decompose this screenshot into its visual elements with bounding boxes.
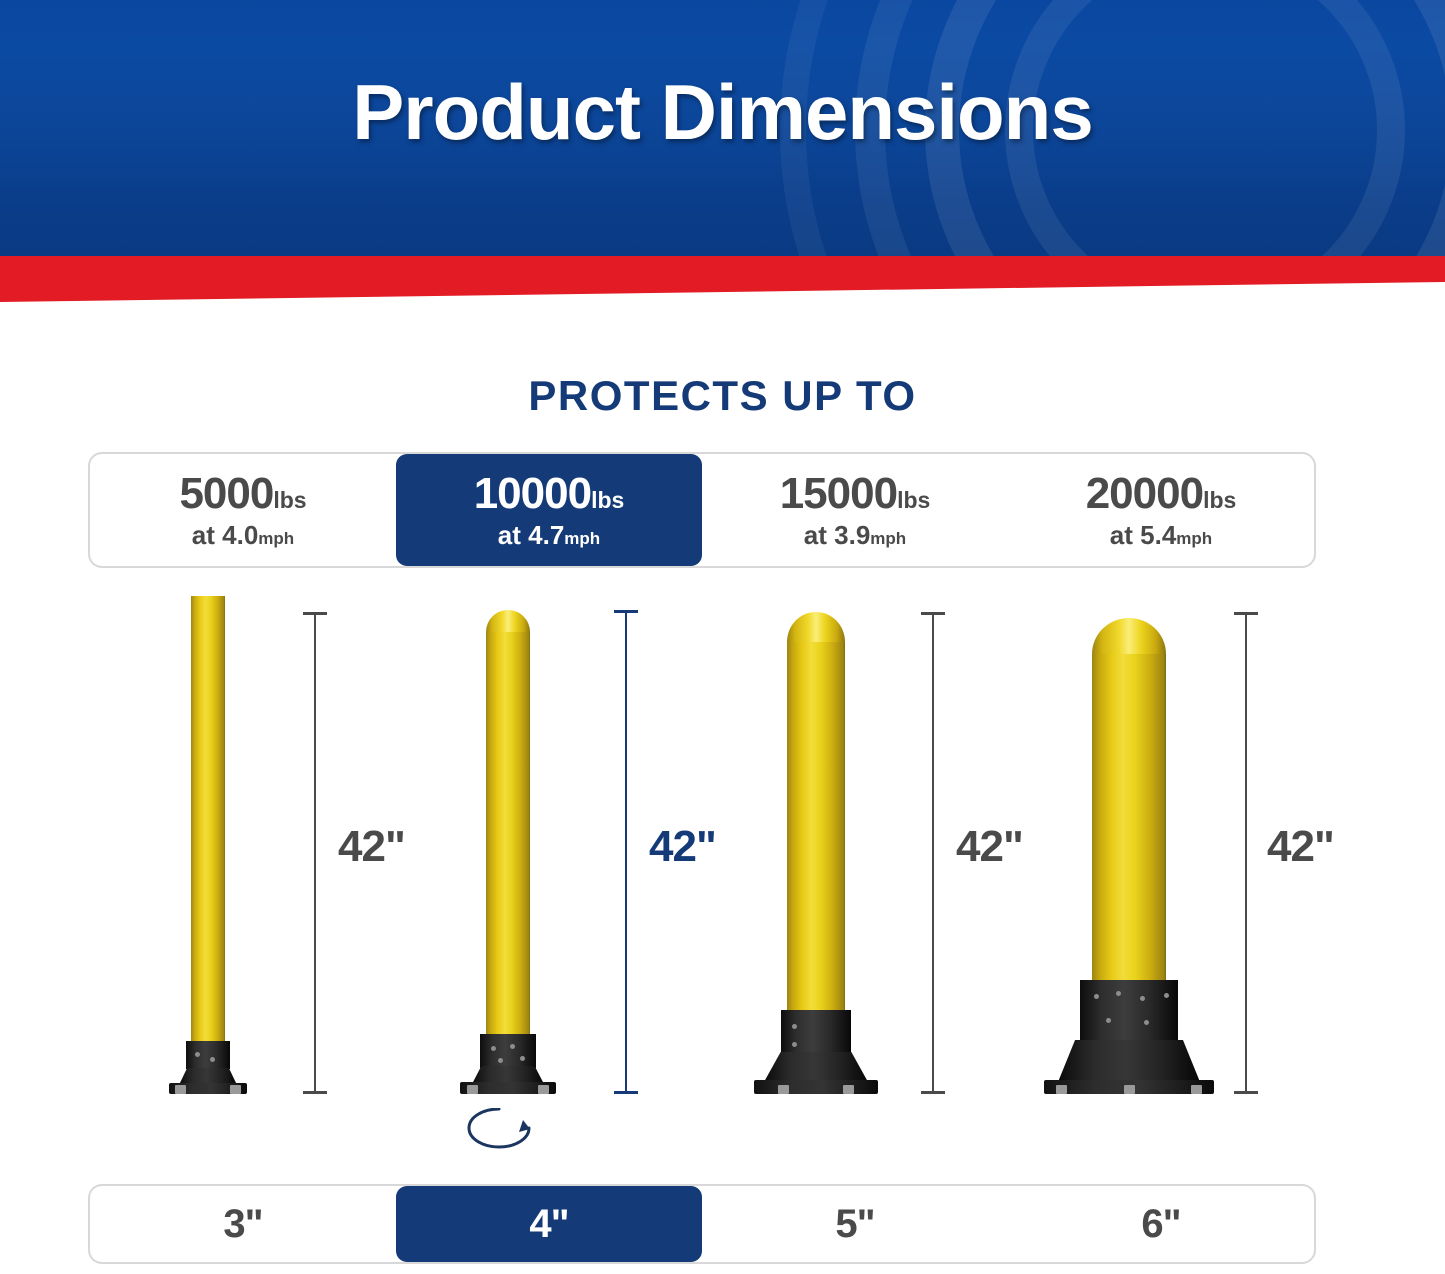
diameter-option-4in[interactable]: 4" (396, 1186, 702, 1262)
weight-value: 10000lbs (474, 472, 625, 516)
page-header: Product Dimensions (0, 0, 1445, 258)
dimension-line-4in (611, 610, 641, 1094)
post-cap-dome-icon (1092, 618, 1166, 654)
speed-unit: mph (258, 529, 294, 548)
product-column-5in: 42" (702, 596, 1009, 1166)
speed-unit: mph (870, 529, 906, 548)
bollard-base-plate (1044, 1080, 1214, 1094)
post-cap-dome-icon (486, 610, 530, 632)
diameter-label: 3" (223, 1204, 262, 1244)
bollard-post (1092, 654, 1166, 1016)
weight-speed: at 5.4mph (1110, 522, 1212, 548)
bollard-graphic-6in (1029, 596, 1229, 1094)
bollard-collar (480, 1034, 536, 1068)
dimension-line-5in (918, 612, 948, 1094)
weight-value: 20000lbs (1086, 472, 1237, 516)
post-cap-dome-icon (787, 612, 845, 642)
bollard-base-plate (460, 1082, 556, 1094)
diameter-option-3in[interactable]: 3" (90, 1186, 396, 1262)
bollard-base-body (1058, 1040, 1200, 1082)
weight-unit: lbs (897, 487, 930, 513)
product-column-4in: 42" (395, 596, 702, 1166)
diameter-label: 5" (835, 1204, 874, 1244)
weight-option-20000[interactable]: 20000lbs at 5.4mph (1008, 454, 1314, 566)
weight-speed: at 4.7mph (498, 522, 600, 548)
bollard-graphic-5in (736, 596, 896, 1094)
product-illustration-row: 42" (88, 596, 1316, 1166)
weight-unit: lbs (591, 487, 624, 513)
rotation-arrow-icon (457, 1108, 543, 1159)
diameter-label: 4" (529, 1204, 568, 1244)
bollard-base-plate (169, 1083, 247, 1094)
bollard-post (787, 642, 845, 1042)
bollard-post (486, 632, 530, 1064)
weight-value: 15000lbs (780, 472, 931, 516)
height-label-6in: 42" (1267, 822, 1334, 872)
bollard-base-body (764, 1052, 868, 1082)
speed-unit: mph (1176, 529, 1212, 548)
bollard-collar (186, 1041, 230, 1069)
weight-unit: lbs (1203, 487, 1236, 513)
weight-selector-bar: 5000lbs at 4.0mph 10000lbs at 4.7mph 150… (88, 452, 1316, 568)
diameter-option-5in[interactable]: 5" (702, 1186, 1008, 1262)
bollard-collar (1080, 980, 1178, 1042)
weight-speed: at 3.9mph (804, 522, 906, 548)
speed-unit: mph (564, 529, 600, 548)
dimension-line-3in (300, 612, 330, 1094)
weight-option-15000[interactable]: 15000lbs at 3.9mph (702, 454, 1008, 566)
diameter-label: 6" (1141, 1204, 1180, 1244)
diameter-selector-bar: 3" 4" 5" 6" (88, 1184, 1316, 1264)
product-column-3in: 42" (88, 596, 395, 1166)
red-accent-stripe (0, 256, 1445, 302)
bollard-base-plate (754, 1080, 878, 1094)
bollard-post (191, 596, 225, 1066)
dimension-line-6in (1231, 612, 1261, 1094)
page-title: Product Dimensions (0, 72, 1445, 154)
bollard-graphic-3in (148, 596, 268, 1094)
bollard-collar (781, 1010, 851, 1054)
product-column-6in: 42" (1009, 596, 1316, 1166)
weight-option-10000[interactable]: 10000lbs at 4.7mph (396, 454, 702, 566)
diameter-option-6in[interactable]: 6" (1008, 1186, 1314, 1262)
protects-up-to-heading: PROTECTS UP TO (0, 372, 1445, 420)
weight-option-5000[interactable]: 5000lbs at 4.0mph (90, 454, 396, 566)
weight-unit: lbs (273, 487, 306, 513)
weight-speed: at 4.0mph (192, 522, 294, 548)
weight-value: 5000lbs (179, 472, 306, 516)
bollard-graphic-4in (443, 596, 573, 1094)
